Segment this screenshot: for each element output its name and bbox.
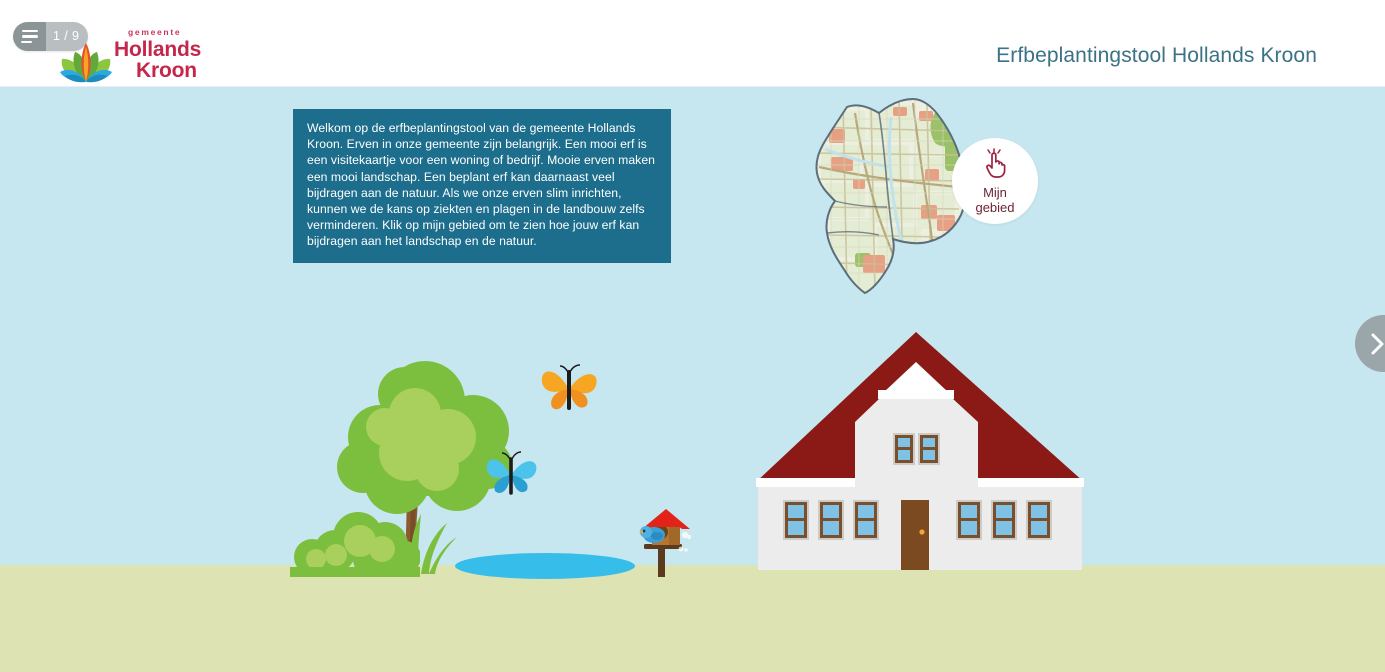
lotus-flower-logo-icon [58, 41, 114, 83]
app-header: 1 / 9 [0, 0, 1385, 87]
next-slide-button[interactable] [1355, 315, 1385, 372]
butterfly-icon [483, 450, 541, 498]
mijn-gebied-line1: Mijn [983, 185, 1007, 200]
logo-wordmark: gemeente Hollands Kroon [114, 27, 214, 82]
chevron-right-icon [1367, 331, 1385, 357]
bush-icon [290, 507, 420, 577]
logo-hollands-text: Hollands [114, 39, 214, 60]
hamburger-line [21, 41, 32, 44]
ground-strip [0, 565, 1385, 672]
page-title: Erfbeplantingstool Hollands Kroon [996, 44, 1317, 68]
house-icon [750, 330, 1090, 570]
pointing-hand-click-icon [982, 148, 1008, 183]
butterfly-icon [538, 362, 602, 414]
scene-canvas: Welkom op de erfbeplantingstool van de g… [0, 87, 1385, 672]
hamburger-line [22, 30, 38, 33]
header-top-divider [0, 0, 1385, 3]
hamburger-line [22, 35, 38, 38]
mijn-gebied-line2: gebied [975, 200, 1014, 215]
mijn-gebied-button[interactable]: Mijn gebied [952, 138, 1038, 224]
logo-kroon-text: Kroon [114, 60, 214, 82]
intro-text-box: Welkom op de erfbeplantingstool van de g… [293, 109, 671, 263]
birdhouse-icon [636, 505, 698, 577]
municipality-logo[interactable]: gemeente Hollands Kroon [58, 27, 213, 83]
municipality-map-image[interactable] [795, 97, 975, 297]
mijn-gebied-label: Mijn gebied [975, 185, 1014, 215]
logo-gemeente-text: gemeente [114, 27, 214, 38]
app-root: 1 / 9 [0, 0, 1385, 672]
hamburger-icon[interactable] [13, 22, 46, 51]
